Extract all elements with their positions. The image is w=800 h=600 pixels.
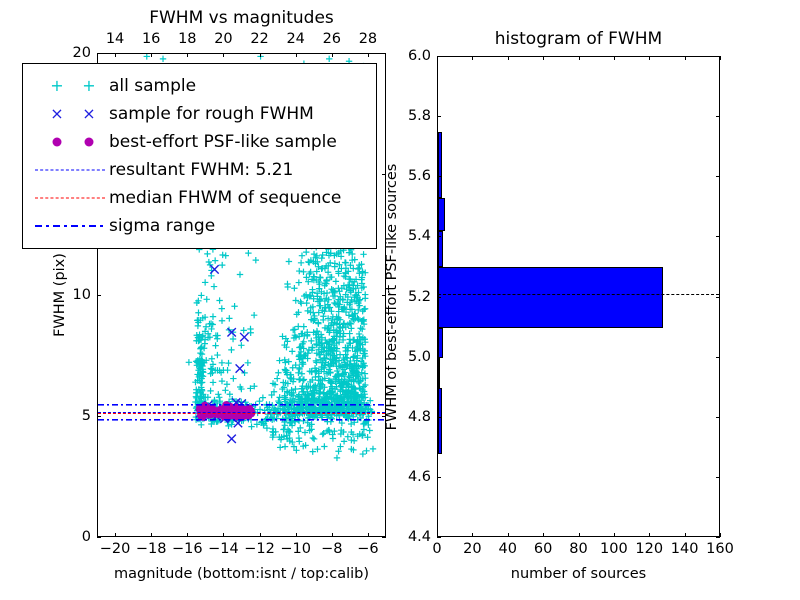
legend-key <box>31 212 109 240</box>
histogram-top-xtick <box>508 56 509 60</box>
histogram-ylabel: FWHM of best-effort PSF-like sources <box>384 163 400 430</box>
histogram-top-xtick <box>543 56 544 60</box>
scatter-yticklabel: 0 <box>53 529 91 545</box>
histogram-ytick <box>437 176 441 177</box>
resultant-fwhm-line <box>98 412 385 413</box>
scatter-ytick-right <box>382 53 386 54</box>
histogram-median-line <box>438 294 719 295</box>
scatter-xtick <box>296 533 297 537</box>
scatter-top-xticklabel: 24 <box>286 31 304 47</box>
scatter-xtick <box>187 533 188 537</box>
histogram-plot-area <box>438 57 719 536</box>
scatter-ytick-right <box>382 537 386 538</box>
scatter-xtick <box>332 533 333 537</box>
scatter-xticklabel: −6 <box>357 541 378 557</box>
histogram-xticklabel: 160 <box>706 541 734 557</box>
scatter-top-xticklabel: 28 <box>359 31 377 47</box>
histogram-top-xtick <box>720 56 721 60</box>
scatter-top-xticklabel: 18 <box>178 31 196 47</box>
scatter-ytick <box>97 53 101 54</box>
histogram-ytick <box>437 357 441 358</box>
histogram-bar <box>438 328 443 358</box>
scatter-yticklabel: 5 <box>53 408 91 424</box>
scatter-xtick <box>115 533 116 537</box>
histogram-ytick <box>437 417 441 418</box>
scatter-xticklabel: −18 <box>136 541 167 557</box>
histogram-title: histogram of FWHM <box>437 29 720 49</box>
scatter-yticklabel: 20 <box>53 45 91 61</box>
scatter-xtick <box>368 533 369 537</box>
histogram-top-xtick <box>649 56 650 60</box>
legend-label: sample for rough FWHM <box>109 104 314 124</box>
scatter-xticklabel: −10 <box>280 541 311 557</box>
sigma-range-upper-line <box>98 404 385 406</box>
scatter-top-xticklabel: 14 <box>106 31 124 47</box>
legend-row: median FHWM of sequence <box>31 184 366 212</box>
scatter-title: FWHM vs magnitudes <box>97 8 386 28</box>
legend-label: all sample <box>109 76 196 96</box>
circle-marker-icon <box>85 138 94 147</box>
histogram-ytick <box>437 297 441 298</box>
histogram-yticklabel: 6.0 <box>389 48 431 64</box>
scatter-top-xticklabel: 26 <box>323 31 341 47</box>
scatter-top-xtick <box>368 53 369 57</box>
histogram-xtick <box>614 533 615 537</box>
histogram-xtick <box>472 533 473 537</box>
histogram-yticklabel: 4.4 <box>389 529 431 545</box>
legend-key: ++ <box>31 72 109 100</box>
histogram-ytick-right <box>716 477 720 478</box>
histogram-yticklabel: 5.8 <box>389 108 431 124</box>
histogram-xticklabel: 0 <box>432 541 441 557</box>
scatter-top-xtick <box>332 53 333 57</box>
scatter-top-xtick <box>296 53 297 57</box>
histogram-ytick <box>437 236 441 237</box>
scatter-xtick <box>260 533 261 537</box>
histogram-xticklabel: 100 <box>600 541 628 557</box>
scatter-top-xtick <box>260 53 261 57</box>
dashdot-line-icon <box>35 225 105 227</box>
scatter-top-xtick <box>187 53 188 57</box>
cross-marker-icon: × <box>50 106 63 122</box>
histogram-xtick <box>579 533 580 537</box>
histogram-bar <box>438 198 445 231</box>
histogram-ytick-right <box>716 357 720 358</box>
histogram-ytick-right <box>716 176 720 177</box>
histogram-top-xtick <box>685 56 686 60</box>
scatter-xticklabel: −8 <box>321 541 342 557</box>
circle-marker-icon <box>53 138 62 147</box>
scatter-ylabel: FWHM (pix) <box>52 253 68 337</box>
scatter-xticklabel: −12 <box>244 541 275 557</box>
histogram-ytick <box>437 116 441 117</box>
scatter-ytick <box>97 416 101 417</box>
scatter-top-xticklabel: 20 <box>214 31 232 47</box>
cross-marker-icon: × <box>82 106 95 122</box>
histogram-xtick <box>508 533 509 537</box>
histogram-xtick <box>649 533 650 537</box>
histogram-ytick-right <box>716 417 720 418</box>
histogram-xtick <box>720 533 721 537</box>
scatter-top-xtick <box>115 53 116 57</box>
histogram-xticklabel: 60 <box>534 541 552 557</box>
scatter-xticklabel: −16 <box>172 541 203 557</box>
scatter-xtick <box>223 533 224 537</box>
legend-key: ×× <box>31 100 109 128</box>
legend-key <box>31 156 109 184</box>
histogram-ytick-right <box>716 56 720 57</box>
histogram-ytick-right <box>716 236 720 237</box>
dashed-line-icon <box>35 198 105 199</box>
sigma-range-lower-line <box>98 419 385 421</box>
histogram-bar <box>438 132 442 198</box>
histogram-ytick <box>437 56 441 57</box>
scatter-top-xtick <box>151 53 152 57</box>
scatter-ytick <box>97 295 101 296</box>
plus-marker-icon: + <box>82 78 95 94</box>
histogram-top-xtick <box>579 56 580 60</box>
scatter-xticklabel: −14 <box>208 541 239 557</box>
histogram-xticklabel: 40 <box>499 541 517 557</box>
histogram-bar <box>438 358 440 388</box>
histogram-xticklabel: 20 <box>463 541 481 557</box>
histogram-xlabel: number of sources <box>437 566 720 582</box>
legend-row: best-effort PSF-like sample <box>31 128 366 156</box>
histogram-top-xtick <box>472 56 473 60</box>
legend-label: resultant FWHM: 5.21 <box>109 160 293 180</box>
histogram-bar <box>438 267 663 327</box>
histogram-xticklabel: 80 <box>569 541 587 557</box>
histogram-ytick <box>437 477 441 478</box>
histogram-xticklabel: 140 <box>671 541 699 557</box>
histogram-yticklabel: 4.6 <box>389 469 431 485</box>
histogram-xticklabel: 120 <box>635 541 663 557</box>
scatter-xlabel: magnitude (bottom:isnt / top:calib) <box>97 566 386 582</box>
histogram-ytick <box>437 537 441 538</box>
histogram-top-xtick <box>614 56 615 60</box>
scatter-top-xtick <box>223 53 224 57</box>
legend-label: sigma range <box>109 216 215 236</box>
histogram-ytick-right <box>716 537 720 538</box>
scatter-top-xticklabel: 16 <box>142 31 160 47</box>
legend-row: sigma range <box>31 212 366 240</box>
histogram-bar <box>438 388 442 454</box>
legend-key <box>31 128 109 156</box>
plus-marker-icon: + <box>50 78 63 94</box>
scatter-xticklabel: −20 <box>100 541 131 557</box>
figure-canvas: FWHM vs magnitudes histogram of FWHM ++a… <box>0 0 800 600</box>
legend-key <box>31 184 109 212</box>
scatter-ytick <box>97 537 101 538</box>
legend-row: resultant FWHM: 5.21 <box>31 156 366 184</box>
scatter-top-xticklabel: 22 <box>250 31 268 47</box>
legend-row: ++all sample <box>31 72 366 100</box>
histogram-xtick <box>543 533 544 537</box>
histogram-axes <box>437 56 720 537</box>
dashed-line-icon <box>35 170 105 171</box>
histogram-ytick-right <box>716 297 720 298</box>
legend-row: ××sample for rough FWHM <box>31 100 366 128</box>
legend-label: median FHWM of sequence <box>109 188 341 208</box>
histogram-xtick <box>685 533 686 537</box>
legend-label: best-effort PSF-like sample <box>109 132 337 152</box>
scatter-xtick <box>151 533 152 537</box>
histogram-ytick-right <box>716 116 720 117</box>
scatter-legend: ++all sample××sample for rough FWHMbest-… <box>22 63 377 249</box>
